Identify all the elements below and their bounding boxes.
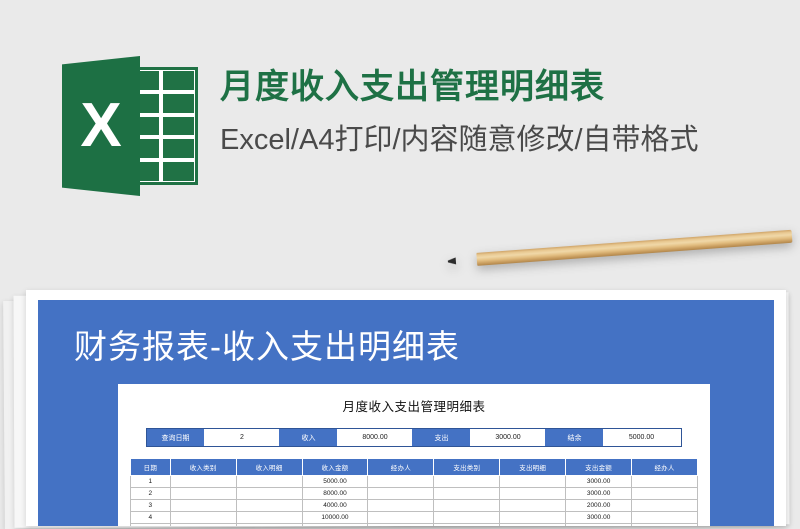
table-cell[interactable]: [170, 476, 236, 488]
table-row: 15000.003000.00: [131, 476, 698, 488]
column-header-expense-amount[interactable]: 支出金额: [566, 459, 632, 476]
ledger-table: 日期 收入类别 收入明细 收入金额 经办人 支出类别 支出明细 支出金额 经办人…: [130, 458, 698, 526]
table-cell[interactable]: [500, 500, 566, 512]
excel-logo-letter: X: [62, 56, 140, 196]
table-cell[interactable]: [236, 476, 302, 488]
table-cell[interactable]: 8000.00: [302, 488, 368, 500]
summary-value-expense[interactable]: 3000.00: [471, 429, 546, 446]
banner-text-block: 月度收入支出管理明细表 Excel/A4打印/内容随意修改/自带格式: [220, 56, 699, 160]
column-header-expense-handler[interactable]: 经办人: [632, 459, 698, 476]
table-cell[interactable]: [368, 512, 434, 524]
summary-label-query-date: 查询日期: [147, 429, 205, 446]
table-cell[interactable]: [368, 476, 434, 488]
excel-grid-cell: [163, 71, 194, 90]
table-cell[interactable]: [170, 488, 236, 500]
column-header-expense-detail[interactable]: 支出明细: [500, 459, 566, 476]
table-cell[interactable]: 3000.00: [566, 512, 632, 524]
document-preview: 财务报表-收入支出明细表 月度收入支出管理明细表 查询日期 2 收入 8000.…: [26, 290, 786, 526]
banner-title: 月度收入支出管理明细表: [220, 66, 699, 109]
summary-label-expense: 支出: [413, 429, 471, 446]
table-cell[interactable]: 2: [131, 488, 171, 500]
table-header-row: 日期 收入类别 收入明细 收入金额 经办人 支出类别 支出明细 支出金额 经办人: [131, 459, 698, 476]
summary-label-income: 收入: [280, 429, 338, 446]
table-cell[interactable]: [434, 488, 500, 500]
table-cell[interactable]: [236, 488, 302, 500]
table-cell[interactable]: [368, 500, 434, 512]
table-row: 410000.003000.00: [131, 512, 698, 524]
column-header-expense-category[interactable]: 支出类别: [434, 459, 500, 476]
table-cell[interactable]: 4: [131, 512, 171, 524]
table-cell[interactable]: [632, 476, 698, 488]
table-cell[interactable]: [500, 488, 566, 500]
excel-grid-cell: [163, 94, 194, 113]
summary-label-balance: 结余: [546, 429, 604, 446]
table-cell[interactable]: [434, 500, 500, 512]
column-header-income-detail[interactable]: 收入明细: [236, 459, 302, 476]
banner-content: X 月度收入支出管理明细表 Excel/A4打印/内容随意修改/自带格式: [62, 56, 699, 196]
excel-grid-cell: [163, 139, 194, 158]
table-cell[interactable]: [434, 512, 500, 524]
summary-value-balance[interactable]: 5000.00: [604, 429, 679, 446]
table-cell[interactable]: 2000.00: [566, 500, 632, 512]
table-body: 15000.003000.0028000.003000.0034000.0020…: [131, 476, 698, 527]
table-row: 28000.003000.00: [131, 488, 698, 500]
table-cell[interactable]: 10000.00: [302, 512, 368, 524]
table-cell[interactable]: [170, 500, 236, 512]
table-cell[interactable]: [236, 500, 302, 512]
table-cell[interactable]: [632, 500, 698, 512]
table-cell[interactable]: [368, 488, 434, 500]
column-header-date[interactable]: 日期: [131, 459, 171, 476]
excel-grid-cell: [163, 162, 194, 181]
report-title: 财务报表-收入支出明细表: [74, 320, 460, 368]
table-cell[interactable]: [500, 476, 566, 488]
excel-grid-cell: [163, 117, 194, 136]
banner-subtitle: Excel/A4打印/内容随意修改/自带格式: [220, 121, 699, 160]
table-cell[interactable]: 3000.00: [566, 488, 632, 500]
column-header-income-category[interactable]: 收入类别: [170, 459, 236, 476]
table-cell[interactable]: 3000.00: [566, 476, 632, 488]
table-cell[interactable]: 5000.00: [302, 476, 368, 488]
table-cell[interactable]: 4000.00: [302, 500, 368, 512]
table-cell[interactable]: [434, 476, 500, 488]
column-header-income-handler[interactable]: 经办人: [368, 459, 434, 476]
spreadsheet-title: 月度收入支出管理明细表: [118, 396, 710, 415]
table-row: 34000.002000.00: [131, 500, 698, 512]
summary-value-query-date[interactable]: 2: [205, 429, 280, 446]
summary-bar: 查询日期 2 收入 8000.00 支出 3000.00 结余 5000.00: [146, 428, 682, 447]
column-header-income-amount[interactable]: 收入金额: [302, 459, 368, 476]
report-page: 财务报表-收入支出明细表 月度收入支出管理明细表 查询日期 2 收入 8000.…: [38, 300, 774, 526]
promo-banner: X 月度收入支出管理明细表 Excel/A4打印/内容随意修改/自带格式: [0, 0, 800, 240]
table-cell[interactable]: [500, 512, 566, 524]
pencil-cone: [453, 253, 478, 268]
table-cell[interactable]: [632, 512, 698, 524]
spreadsheet-panel: 月度收入支出管理明细表 查询日期 2 收入 8000.00 支出 3000.00…: [118, 384, 710, 526]
table-cell[interactable]: [236, 512, 302, 524]
table-cell[interactable]: [632, 488, 698, 500]
table-cell[interactable]: 1: [131, 476, 171, 488]
table-cell[interactable]: [170, 512, 236, 524]
summary-value-income[interactable]: 8000.00: [338, 429, 413, 446]
excel-logo-icon: X: [62, 56, 198, 196]
table-cell[interactable]: 3: [131, 500, 171, 512]
